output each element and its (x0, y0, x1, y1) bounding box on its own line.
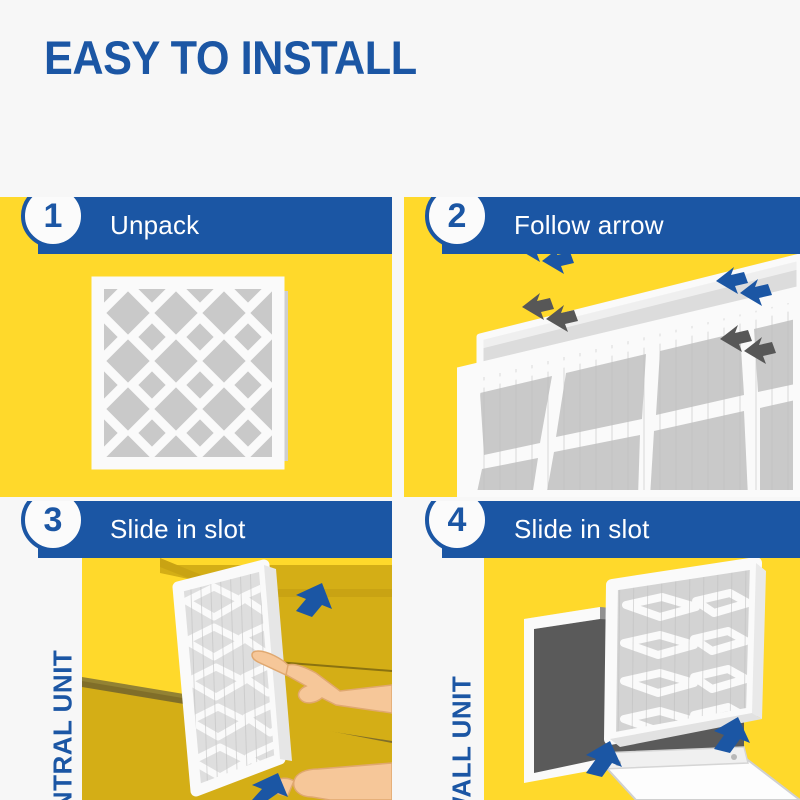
step-3-header-bar: Slide in slot (38, 501, 392, 558)
step-1-header-bar: Unpack (38, 197, 392, 254)
step-card-4: WALL UNIT Slide in slot 4 (404, 501, 800, 800)
step-4-side-label: WALL UNIT (447, 629, 478, 800)
step-1-label: Unpack (110, 210, 199, 241)
step-3-label: Slide in slot (110, 514, 246, 545)
step-card-1: Unpack 1 (0, 197, 392, 497)
step-2-label: Follow arrow (514, 210, 664, 241)
step-4-header-bar: Slide in slot (442, 501, 800, 558)
steps-grid: Unpack 1 (0, 197, 800, 800)
page-title: EASY TO INSTALL (44, 30, 417, 85)
step-4-label: Slide in slot (514, 514, 650, 545)
step-card-2: Follow arrow 2 (404, 197, 800, 497)
step-3-side-label: CENTRAL UNIT (48, 629, 79, 800)
easy-to-install-infographic: EASY TO INSTALL (0, 0, 800, 800)
step-2-header-bar: Follow arrow (442, 197, 800, 254)
step-card-3: CENTRAL UNIT Slide in slot 3 (0, 501, 392, 800)
